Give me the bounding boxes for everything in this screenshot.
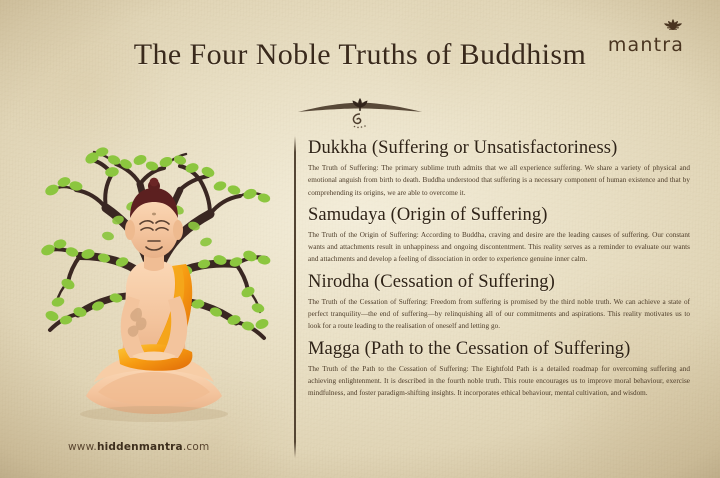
truth-item: Dukkha (Suffering or Unsatisfactoriness)… [308,136,692,199]
url-prefix: www. [68,441,97,453]
four-noble-truths-list: Dukkha (Suffering or Unsatisfactoriness)… [308,136,692,404]
truth-body: The Truth of the Cessation of Suffering:… [308,296,692,333]
infographic-poster: mantra The Four Noble Truths of Buddhism [0,0,720,478]
ornament-divider-icon [295,96,425,130]
truth-heading: Magga (Path to the Cessation of Sufferin… [308,337,692,362]
url-suffix: .com [183,441,210,453]
buddha-under-bodhi-tree-illustration [22,110,282,430]
column-divider [294,136,296,458]
truth-body: The Truth of the Path to the Cessation o… [308,363,692,400]
url-domain: hiddenmantra [97,441,183,453]
truth-heading: Samudaya (Origin of Suffering) [308,203,692,228]
truth-item: Samudaya (Origin of Suffering) The Truth… [308,203,692,266]
truth-body: The Truth of the Origin of Suffering: Ac… [308,229,692,266]
truth-heading: Nirodha (Cessation of Suffering) [308,270,692,295]
lotus-icon [662,16,684,32]
website-url[interactable]: www.hiddenmantra.com [68,441,209,453]
truth-body: The Truth of Suffering: The primary subl… [308,162,692,199]
truth-item: Magga (Path to the Cessation of Sufferin… [308,337,692,400]
truth-heading: Dukkha (Suffering or Unsatisfactoriness) [308,136,692,161]
truth-item: Nirodha (Cessation of Suffering) The Tru… [308,270,692,333]
page-title: The Four Noble Truths of Buddhism [0,38,720,72]
